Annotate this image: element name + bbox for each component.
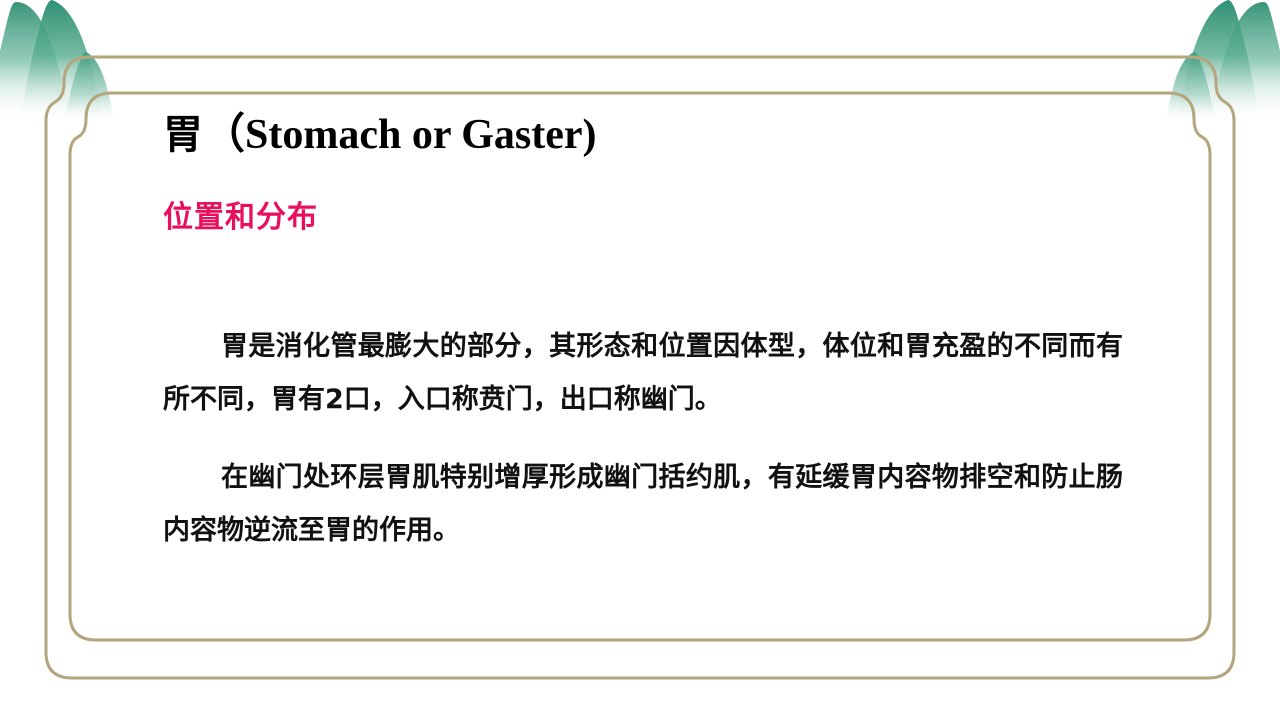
section-subtitle: 位置和分布 [163, 198, 318, 238]
slide-content: 胃（Stomach or Gaster) 位置和分布 胃是消化管最膨大的部分，其… [0, 0, 1280, 720]
slide-canvas: 胃（Stomach or Gaster) 位置和分布 胃是消化管最膨大的部分，其… [0, 0, 1280, 720]
body-paragraph-2: 在幽门处环层胃肌特别增厚形成幽门括约肌，有延缓胃内容物排空和防止肠内容物逆流至胃… [163, 451, 1123, 557]
page-title: 胃（Stomach or Gaster) [163, 108, 596, 162]
page-title-cjk: 胃 [163, 112, 203, 158]
body-text-block: 胃是消化管最膨大的部分，其形态和位置因体型，体位和胃充盈的不同而有所不同，胃有2… [163, 320, 1123, 557]
page-title-latin: （Stomach or Gaster) [203, 112, 596, 158]
body-paragraph-1: 胃是消化管最膨大的部分，其形态和位置因体型，体位和胃充盈的不同而有所不同，胃有2… [163, 320, 1123, 426]
